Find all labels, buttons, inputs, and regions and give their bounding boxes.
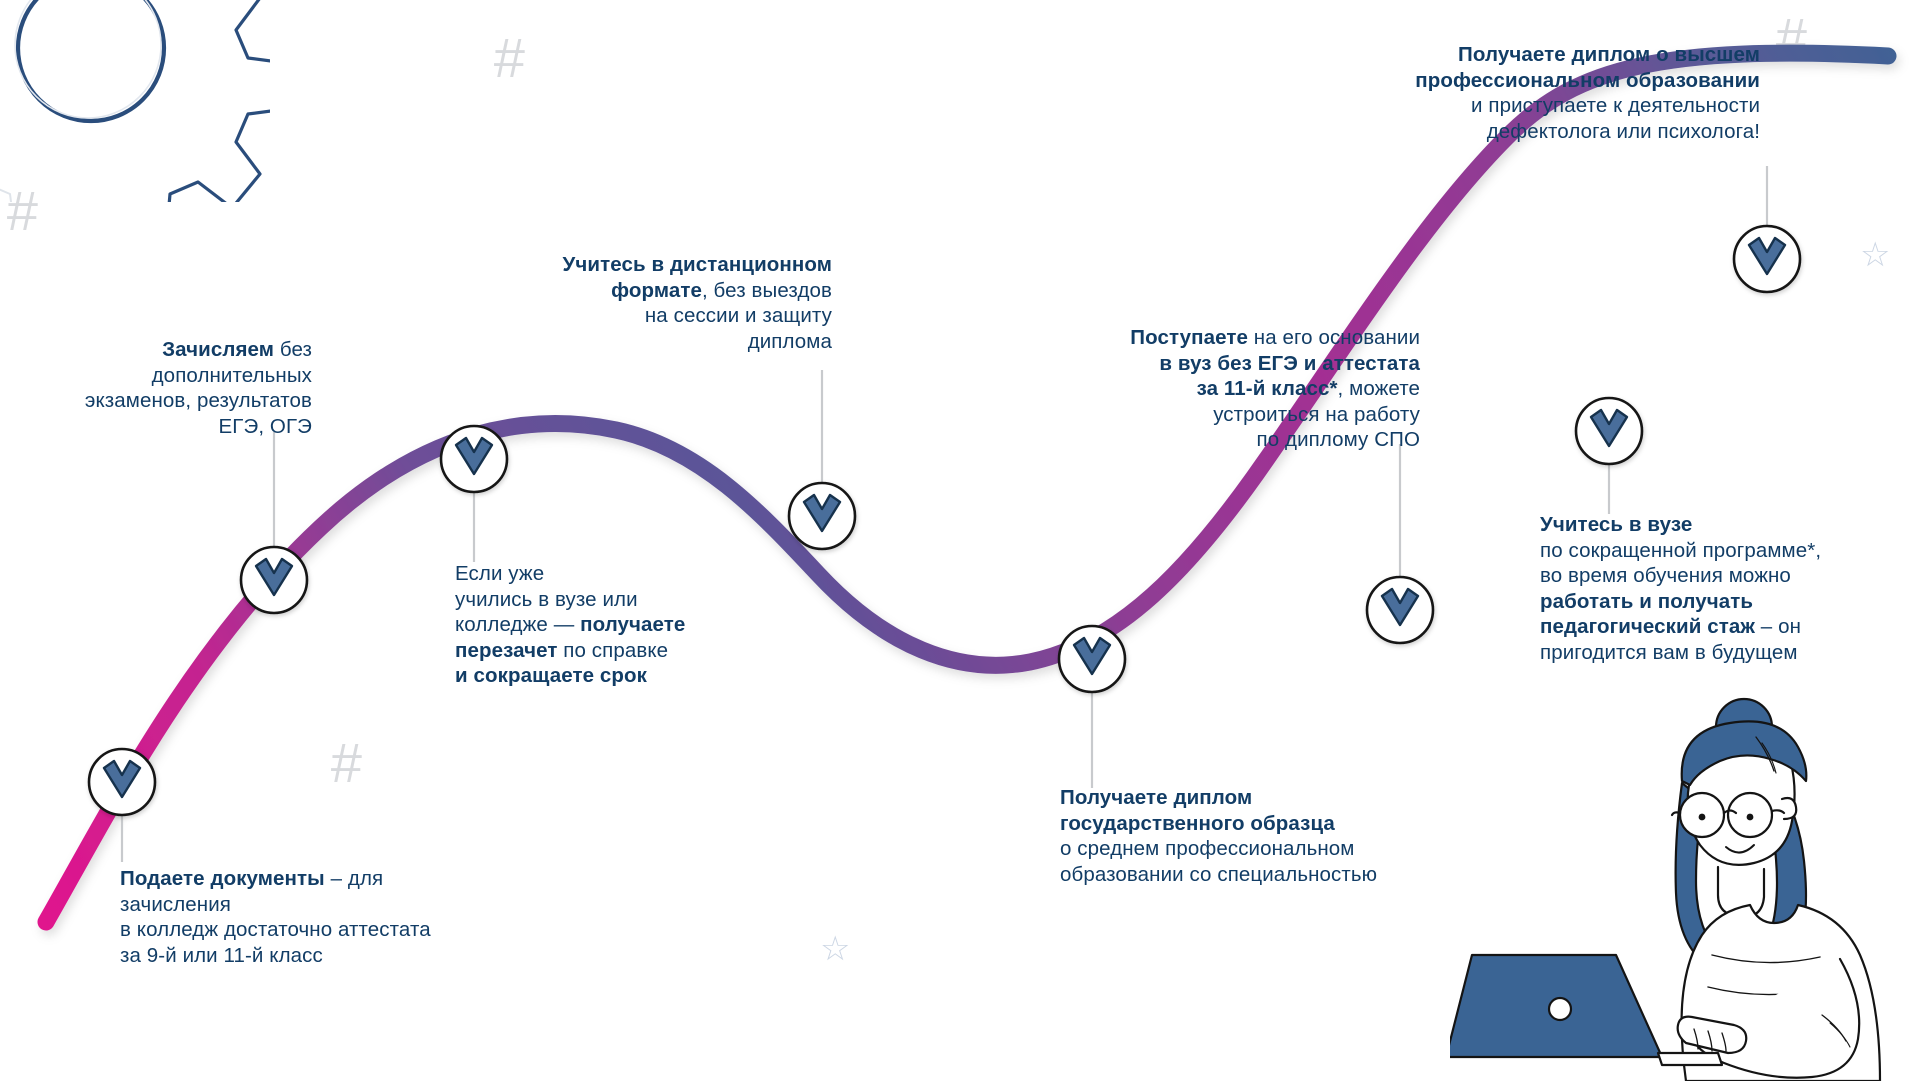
step-label-university-admission: Поступаете на его основании в вуз без ЕГ…	[1000, 325, 1420, 453]
arm-right	[1694, 959, 1859, 1078]
glasses-icon	[1680, 793, 1772, 837]
check-chevron-icon	[1382, 589, 1418, 625]
step-label-enrollment: Зачисляем без дополнительных экзаменов, …	[0, 337, 312, 439]
step-label-distance-learning: Учитесь в дистанционном формате, без вые…	[420, 252, 832, 354]
step-label-credit-transfer: Если уже учились в вузе или колледже — п…	[455, 561, 785, 689]
check-chevron-icon	[804, 495, 840, 531]
gear-outline-icon	[0, 0, 270, 202]
neck	[1718, 867, 1764, 917]
woman-with-laptop-illustration	[1450, 691, 1920, 1081]
eye-right	[1747, 814, 1754, 821]
eye-left	[1699, 814, 1706, 821]
check-chevron-icon	[1591, 410, 1627, 446]
laptop-base	[1658, 1053, 1722, 1065]
hair-bun	[1716, 699, 1772, 755]
step-marker-7[interactable]	[1576, 398, 1642, 464]
star-decoration-icon: ☆	[820, 932, 850, 966]
step-label-submit-documents: Подаете документы – для зачисления в кол…	[120, 866, 550, 968]
step-marker-4[interactable]	[789, 483, 855, 549]
check-chevron-icon	[104, 761, 140, 797]
check-chevron-icon	[1074, 638, 1110, 674]
laptop-screen	[1450, 955, 1662, 1057]
star-decoration-icon: ☆	[1860, 238, 1890, 272]
step-marker-3[interactable]	[441, 426, 507, 492]
ear	[1782, 798, 1796, 819]
step-marker-1[interactable]	[89, 749, 155, 815]
hands	[1678, 1017, 1747, 1053]
check-chevron-icon	[456, 438, 492, 474]
step-marker-5[interactable]	[1059, 626, 1125, 692]
hair-back	[1676, 783, 1718, 963]
face	[1688, 728, 1795, 865]
check-chevron-icon	[1749, 238, 1785, 274]
step-marker-6[interactable]	[1367, 577, 1433, 643]
hash-decoration-icon: #	[1775, 10, 1806, 66]
step-label-higher-education-diploma: Получаете диплом о высшем профессиональн…	[1280, 42, 1760, 144]
infographic-canvas: # # # # ☆ ☆	[0, 0, 1920, 1081]
hair-fringe	[1682, 721, 1807, 785]
step-marker-8[interactable]	[1734, 226, 1800, 292]
hash-decoration-icon: #	[493, 30, 524, 86]
connector-lines	[122, 166, 1767, 862]
check-chevron-icon	[256, 559, 292, 595]
sweater	[1682, 905, 1880, 1081]
smile	[1726, 845, 1754, 853]
hash-decoration-icon: #	[330, 735, 361, 791]
curve-path	[46, 53, 1888, 922]
step-label-spo-diploma: Получаете диплом государственного образц…	[1060, 785, 1490, 887]
hash-decoration-icon: #	[6, 183, 37, 239]
laptop-logo	[1549, 998, 1571, 1020]
step-label-study-at-university: Учитесь в вузе по сокращенной программе*…	[1540, 512, 1920, 665]
step-marker-2[interactable]	[241, 547, 307, 613]
